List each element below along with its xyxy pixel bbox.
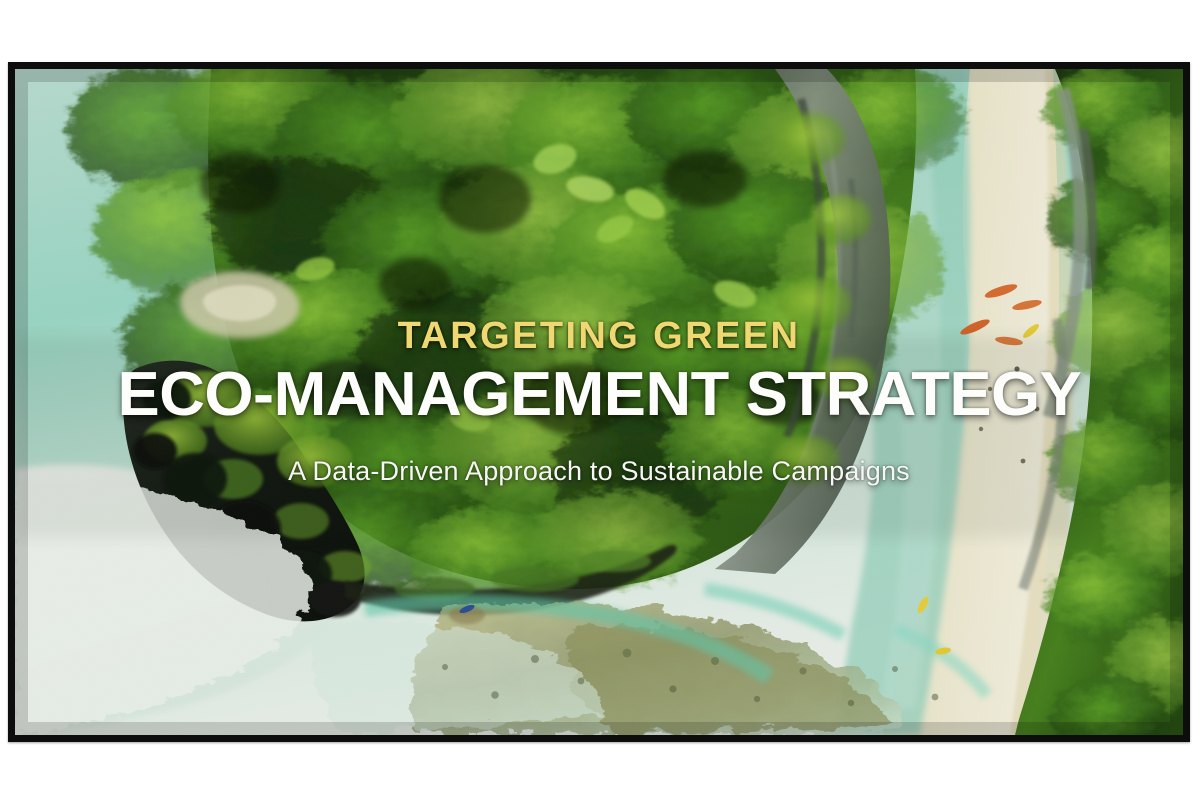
slide-frame: TARGETING GREEN ECO-MANAGEMENT STRATEGY … [8, 62, 1190, 742]
aerial-island-illustration [15, 69, 1183, 735]
background-photo [15, 69, 1183, 735]
slide-canvas: TARGETING GREEN ECO-MANAGEMENT STRATEGY … [0, 0, 1200, 800]
